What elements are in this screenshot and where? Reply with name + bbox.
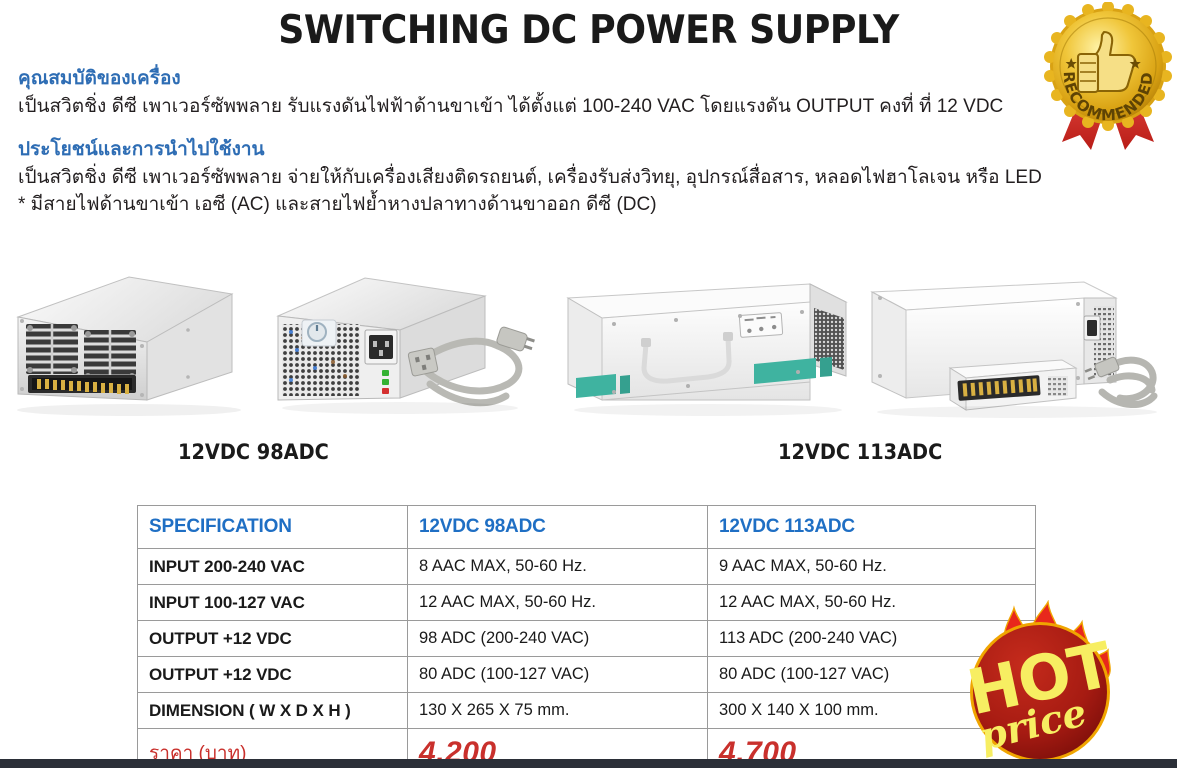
status-leds: [382, 370, 389, 394]
row-value-113adc: 300 X 140 X 100 mm.: [708, 693, 1036, 729]
row-value-98adc: 80 ADC (100-127 VAC): [408, 657, 708, 693]
row-value-113adc: 80 ADC (100-127 VAC): [708, 657, 1036, 693]
recommended-badge: RECOMMENDED: [1044, 2, 1172, 154]
row-value-98adc: 98 ADC (200-240 VAC): [408, 621, 708, 657]
header-specification: SPECIFICATION: [138, 506, 408, 549]
header-model-98adc: 12VDC 98ADC: [408, 506, 708, 549]
product-photo-3: [558, 272, 853, 422]
iec-inlet-2: [1084, 316, 1100, 340]
table-row: INPUT 200-240 VAC 8 AAC MAX, 50-60 Hz. 9…: [138, 549, 1036, 585]
row-label: OUTPUT +12 VDC: [138, 657, 408, 693]
iec-connector: [408, 348, 438, 377]
row-label: DIMENSION ( W X D X H ): [138, 693, 408, 729]
row-label: INPUT 200-240 VAC: [138, 549, 408, 585]
output-connector: [28, 375, 136, 394]
power-switch-dial: [302, 320, 336, 346]
table-row: OUTPUT +12 VDC 80 ADC (100-127 VAC) 80 A…: [138, 657, 1036, 693]
usage-heading: ประโยชน์และการนำไปใช้งาน: [18, 137, 1038, 163]
specification-table: SPECIFICATION 12VDC 98ADC 12VDC 113ADC I…: [137, 505, 1036, 768]
table-header-row: SPECIFICATION 12VDC 98ADC 12VDC 113ADC: [138, 506, 1036, 549]
row-label: OUTPUT +12 VDC: [138, 621, 408, 657]
caption-model-113adc: 12VDC 113ADC: [778, 440, 942, 464]
table-row: DIMENSION ( W X D X H ) 130 X 265 X 75 m…: [138, 693, 1036, 729]
table-row: OUTPUT +12 VDC 98 ADC (200-240 VAC) 113 …: [138, 621, 1036, 657]
features-line-1: เป็นสวิตชิ่ง ดีซี เพาเวอร์ซัพพลาย รับแรง…: [18, 93, 1038, 120]
terminal-label: [739, 313, 782, 338]
product-photo-2: [270, 272, 550, 422]
output-module: [950, 360, 1076, 410]
product-photo-4: [862, 272, 1172, 422]
page-title: SWITCHING DC POWER SUPPLY: [41, 8, 1136, 54]
bottom-bar: [0, 759, 1177, 768]
row-value-98adc: 130 X 265 X 75 mm.: [408, 693, 708, 729]
usage-line-1: เป็นสวิตชิ่ง ดีซี เพาเวอร์ซัพพลาย จ่ายให…: [18, 164, 1038, 191]
caption-model-98adc: 12VDC 98ADC: [178, 440, 329, 464]
iec-inlet: [365, 330, 397, 364]
row-value-113adc: 12 AAC MAX, 50-60 Hz.: [708, 585, 1036, 621]
row-value-113adc: 9 AAC MAX, 50-60 Hz.: [708, 549, 1036, 585]
product-spec-sheet: SWITCHING DC POWER SUPPLY: [0, 0, 1177, 768]
row-label: INPUT 100-127 VAC: [138, 585, 408, 621]
features-heading: คุณสมบัติของเครื่อง: [18, 66, 1038, 92]
product-photo-strip: [0, 272, 1177, 432]
row-value-98adc: 12 AAC MAX, 50-60 Hz.: [408, 585, 708, 621]
header-model-113adc: 12VDC 113ADC: [708, 506, 1036, 549]
description-block: คุณสมบัติของเครื่อง เป็นสวิตชิ่ง ดีซี เพ…: [18, 66, 1038, 218]
table-row: INPUT 100-127 VAC 12 AAC MAX, 50-60 Hz. …: [138, 585, 1036, 621]
product-photo-1: [4, 272, 264, 422]
usage-line-2: * มีสายไฟด้านขาเข้า เอซี (AC) และสายไฟย้…: [18, 191, 1038, 218]
row-value-98adc: 8 AAC MAX, 50-60 Hz.: [408, 549, 708, 585]
paragraph-spacer: [18, 120, 1038, 137]
row-value-113adc: 113 ADC (200-240 VAC): [708, 621, 1036, 657]
